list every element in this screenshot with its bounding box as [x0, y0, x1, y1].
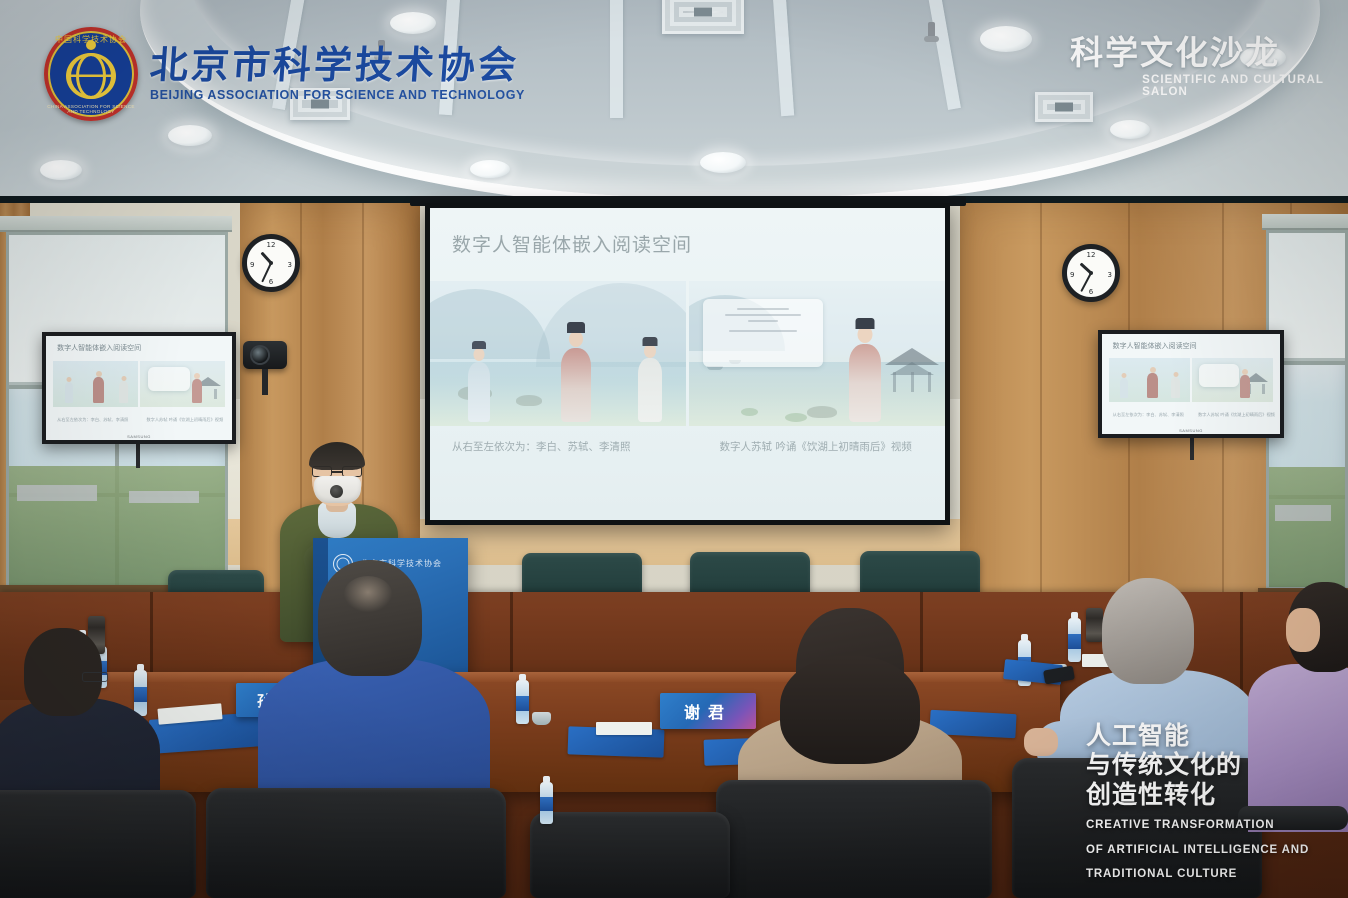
tv-slide-title: 数字人智能体嵌入阅读空间	[1113, 341, 1197, 351]
salon-name-cn: 科学文化沙龙	[1070, 36, 1324, 69]
org-name-cn: 北京市科学技术协会	[149, 46, 527, 86]
downlight-icon	[980, 26, 1032, 52]
sprinkler-head-icon	[928, 22, 935, 38]
water-bottle[interactable]	[516, 680, 529, 724]
salon-name-en-line2: SALON	[1142, 86, 1324, 98]
tv-slide-image-left	[53, 361, 138, 407]
attendee-face	[1286, 608, 1320, 652]
ceiling-rib	[610, 0, 623, 118]
overlay-en-line3: TRADITIONAL CULTURE	[1086, 867, 1326, 882]
overlay-en-line1: CREATIVE TRANSFORMATION	[1086, 818, 1326, 833]
camera-mount	[262, 369, 268, 395]
tv-caption-right: 数字人苏轼 吟诵《饮湖上初晴雨后》视频	[1198, 412, 1275, 418]
pavilion-icon	[885, 348, 939, 392]
tv-caption-left: 从右至左依次为：李白、苏轼、李清照	[57, 417, 128, 423]
overlay-en-line2: OF ARTIFICIAL INTELLIGENCE AND	[1086, 843, 1326, 858]
wall-tv-left: 数字人智能体嵌入阅读空间 从右至左依次为：李白、苏轼、李	[42, 332, 236, 444]
digital-human-libai	[638, 336, 662, 422]
office-chair[interactable]	[206, 788, 506, 898]
emblem-cn-text: 中国科学技术协会	[44, 34, 138, 45]
tea-cup[interactable]	[532, 712, 551, 725]
overlay-cn-line1: 人工智能	[1086, 721, 1326, 751]
tv-mount-left	[136, 440, 140, 468]
cast-emblem-icon: 中国科学技术协会 CHINA ASSOCIATION FOR SCIENCE A…	[44, 27, 138, 121]
salon-logo: 科学文化沙龙 SCIENTIFIC AND CULTURAL SALON	[1070, 36, 1324, 98]
attendee-hand	[1024, 728, 1058, 756]
tv-brand-label: SAMSUNG	[1179, 428, 1203, 433]
outside-foliage	[9, 466, 225, 585]
tv-caption-left: 从右至左依次为：李白、苏轼、李清照	[1113, 412, 1184, 418]
digital-human-liqingzhao	[468, 340, 490, 422]
outside-building	[129, 491, 199, 503]
office-chair[interactable]	[530, 812, 730, 898]
attendee-hair-long	[780, 656, 920, 764]
outside-foliage	[1269, 467, 1345, 587]
overlay-cn-line3: 创造性转化	[1086, 780, 1326, 810]
digital-human-sushi	[561, 322, 591, 422]
attendee-head	[1102, 578, 1194, 684]
downlight-icon	[470, 160, 510, 178]
video-camera-icon	[243, 341, 287, 369]
slide-caption-right: 数字人苏轼 吟诵《饮湖上初晴雨后》视频	[678, 430, 946, 470]
org-name-en: BEIJING ASSOCIATION FOR SCIENCE AND TECH…	[150, 88, 525, 102]
wall-clock-left: 12 3 6 9	[242, 234, 300, 292]
water-bottle[interactable]	[540, 782, 553, 824]
slide-title: 数字人智能体嵌入阅读空间	[452, 230, 692, 257]
curtain-box	[0, 216, 232, 232]
hvac-vent-icon	[662, 0, 744, 34]
emblem-en-text: CHINA ASSOCIATION FOR SCIENCE AND TECHNO…	[44, 104, 138, 114]
salon-name-en-line1: SCIENTIFIC AND CULTURAL	[1142, 74, 1324, 86]
poem-card	[703, 299, 823, 367]
downlight-icon	[40, 160, 82, 180]
wall-tv-right: 数字人智能体嵌入阅读空间 从右至左依次为：李白、苏轼、李	[1098, 330, 1284, 438]
tv-slide-image-left	[1109, 358, 1190, 402]
slide-caption-left: 从右至左依次为：李白、苏轼、李清照	[430, 430, 678, 470]
conference-photo: 中国科学技术协会 CHINA ASSOCIATION FOR SCIENCE A…	[0, 0, 1348, 898]
office-chair[interactable]	[0, 790, 196, 898]
overlay-cn-line2: 与传统文化的	[1086, 750, 1326, 780]
tv-slide-title: 数字人智能体嵌入阅读空间	[57, 343, 141, 353]
outside-building	[17, 485, 97, 501]
slide-image-digital-humans	[430, 281, 686, 426]
downlight-icon	[1110, 120, 1150, 139]
office-chair[interactable]	[716, 780, 992, 898]
slide-image-sushi-video	[689, 281, 945, 426]
outside-building	[1275, 505, 1331, 521]
tv-caption-right: 数字人苏轼 吟诵《饮湖上初晴雨后》视频	[146, 417, 223, 423]
downlight-icon	[168, 125, 212, 146]
organization-logo: 中国科学技术协会 CHINA ASSOCIATION FOR SCIENCE A…	[44, 27, 525, 121]
tv-brand-label: SAMSUNG	[127, 434, 151, 439]
digital-human-sushi-closeup	[849, 318, 881, 422]
event-title-overlay: 人工智能 与传统文化的 创造性转化 CREATIVE TRANSFORMATIO…	[1086, 721, 1326, 882]
projection-screen: 数字人智能体嵌入阅读空间	[425, 203, 950, 525]
curtain-box	[1262, 214, 1348, 230]
wall-clock-right: 12 3 6 9	[1062, 244, 1120, 302]
glasses-icon	[82, 672, 108, 682]
slide-captions: 从右至左依次为：李白、苏轼、李清照 数字人苏轼 吟诵《饮湖上初晴雨后》视频	[430, 430, 945, 470]
tv-slide-image-right	[140, 361, 225, 407]
attendee-bald-spot	[344, 576, 392, 612]
tv-slide-image-right	[1192, 358, 1273, 402]
placard-name: 谢君	[684, 699, 732, 723]
slide-media-row	[430, 281, 945, 426]
mask-valve-icon	[330, 485, 343, 498]
printed-document[interactable]	[596, 722, 652, 735]
downlight-icon	[700, 152, 746, 173]
